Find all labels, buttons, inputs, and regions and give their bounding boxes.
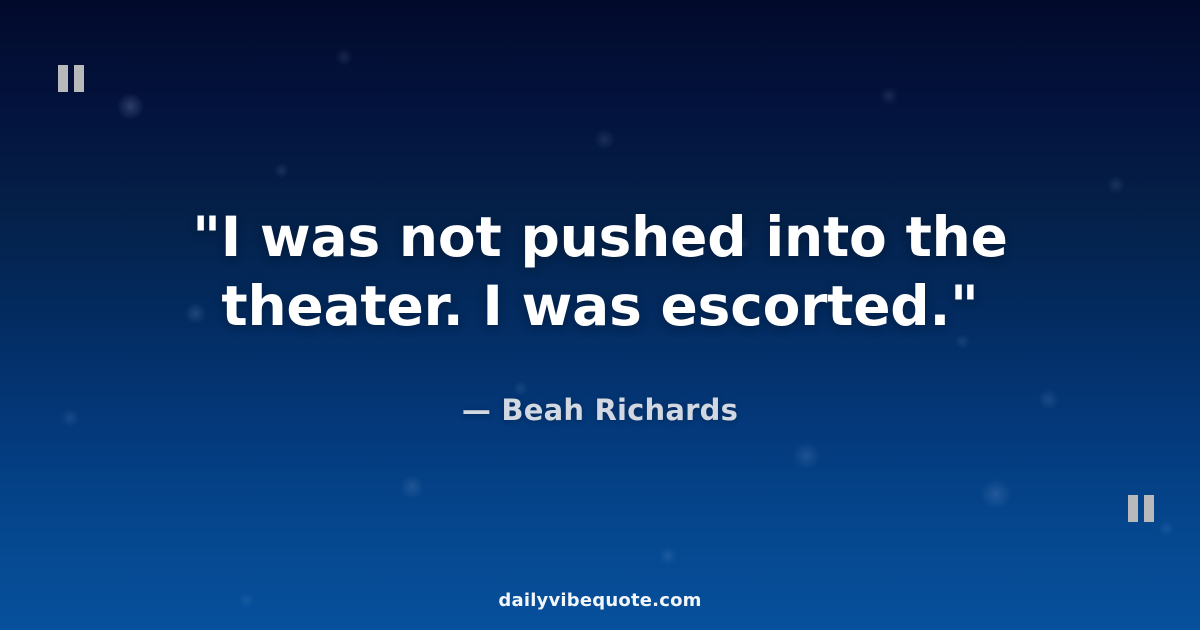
quote-text: "I was not pushed into the theater. I wa… bbox=[95, 203, 1105, 342]
quote-attribution: — Beah Richards bbox=[462, 393, 738, 427]
quote-content: "I was not pushed into the theater. I wa… bbox=[0, 0, 1200, 630]
footer-watermark: dailyvibequote.com bbox=[0, 590, 1200, 611]
quote-card: "I was not pushed into the theater. I wa… bbox=[0, 0, 1200, 630]
